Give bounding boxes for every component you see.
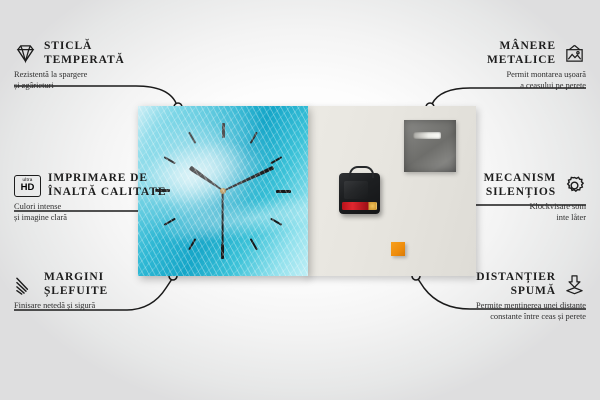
feature-subtitle: Culori intense și imagine clară xyxy=(14,199,194,223)
feature-title: STICLĂ TEMPERATĂ xyxy=(44,40,125,67)
clock-second-hand xyxy=(222,191,224,251)
foam-spacer xyxy=(391,242,405,256)
metal-hanger-plate-icon xyxy=(404,120,456,172)
clock-center-hub xyxy=(220,188,226,194)
feature-subtitle: Rezistentă la spargere și zgârieturi xyxy=(14,67,184,91)
mechanism-highlight xyxy=(344,181,368,199)
hanger-loop xyxy=(349,166,374,178)
feature-subtitle: Permit montarea ușoară a ceasului pe per… xyxy=(406,67,586,91)
polished-edges-icon xyxy=(14,274,37,295)
feature-polished-edges: MARGINI ȘLEFUITE Finisare netedă și sigu… xyxy=(14,271,194,312)
foam-spacer-icon xyxy=(563,274,586,295)
picture-hanger-icon xyxy=(563,43,586,64)
feature-tempered-glass: STICLĂ TEMPERATĂ Rezistentă la spargere … xyxy=(14,40,184,91)
feature-subtitle: Finisare netedă și sigură xyxy=(14,298,194,312)
feature-title: IMPRIMARE DE ÎNALTĂ CALITATE xyxy=(48,172,166,199)
feature-print-quality: ultra HD IMPRIMARE DE ÎNALTĂ CALITATE Cu… xyxy=(14,172,194,223)
gear-icon xyxy=(563,175,586,196)
infographic-canvas: STICLĂ TEMPERATĂ Rezistentă la spargere … xyxy=(0,0,600,400)
battery-terminal xyxy=(369,202,376,210)
feature-silent-mechanism: MECANISM SILENȚIOS Klockvisare som inte … xyxy=(406,172,586,223)
feature-title: MÂNERE METALICE xyxy=(487,40,556,67)
ultra-hd-badge-icon: ultra HD xyxy=(14,175,41,197)
feature-subtitle: Permite menținerea unei distanțe constan… xyxy=(386,298,586,322)
feature-metal-handles: MÂNERE METALICE Permit montarea ușoară a… xyxy=(406,40,586,91)
diamond-icon xyxy=(14,43,37,64)
feature-title: DISTANȚIER SPUMĂ xyxy=(476,271,556,298)
clock-mechanism xyxy=(339,173,380,214)
clock-minute-hand xyxy=(222,166,274,193)
feature-title: MARGINI ȘLEFUITE xyxy=(44,271,108,298)
feature-foam-spacer: DISTANȚIER SPUMĂ Permite menținerea unei… xyxy=(386,271,586,322)
feature-subtitle: Klockvisare som inte låter xyxy=(406,199,586,223)
feature-title: MECANISM SILENȚIOS xyxy=(484,172,556,199)
